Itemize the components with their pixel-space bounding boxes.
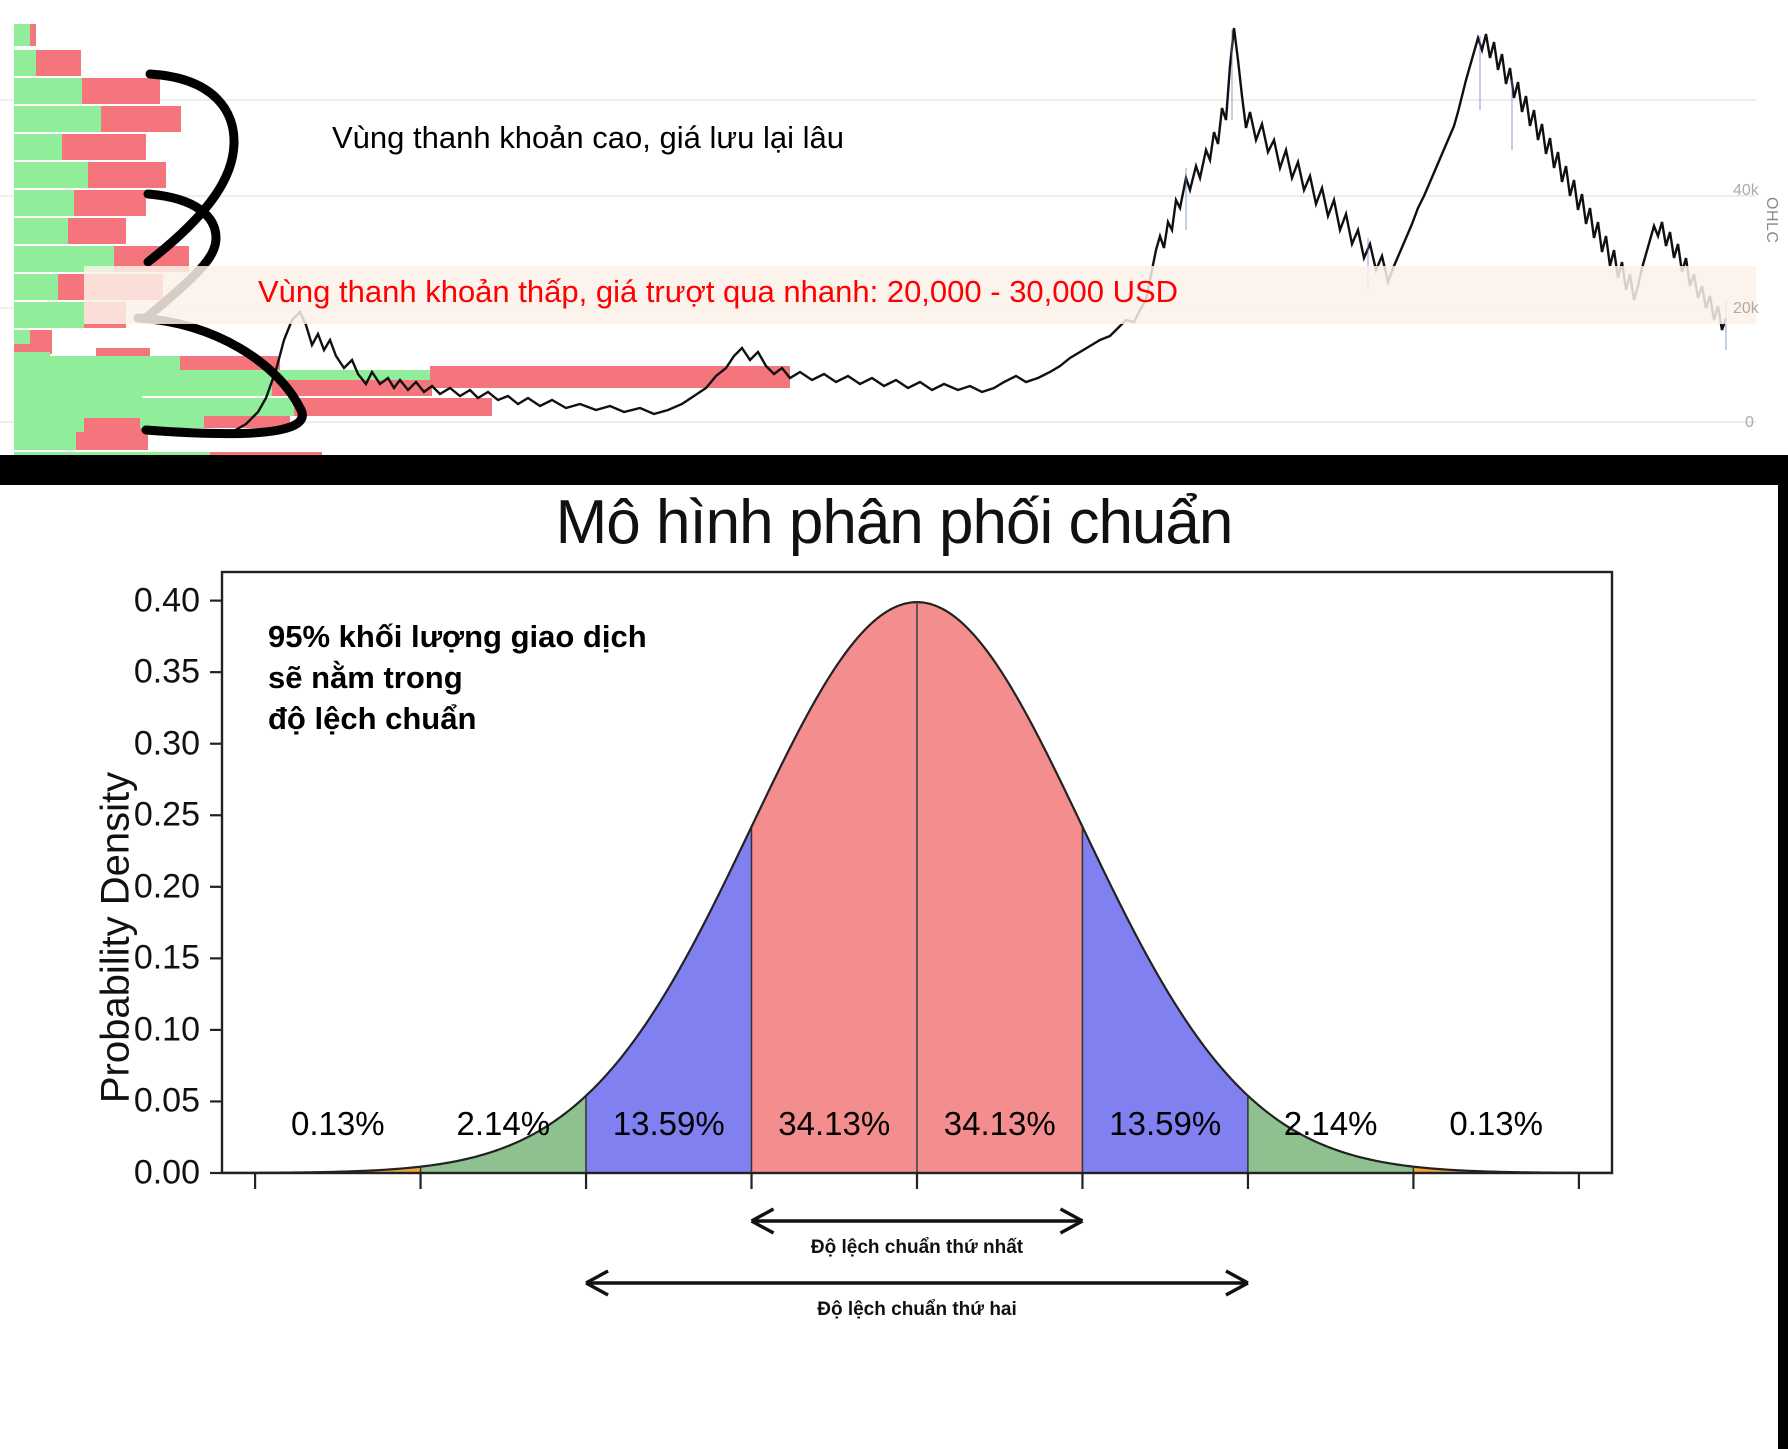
y-axis-tick-label: 0.05 [20, 1082, 200, 1121]
sigma-range-label: Độ lệch chuẩn thứ hai [817, 1299, 1017, 1321]
panel-divider [0, 455, 1788, 485]
axis-tick-40k: 40k [1733, 182, 1759, 200]
band-percent-label: 2.14% [457, 1105, 551, 1143]
annotation-95-percent: 95% khối lượng giao dịch sẽ nằm trong độ… [268, 617, 647, 740]
band-percent-label: 0.13% [291, 1105, 385, 1143]
y-axis-tick-label: 0.40 [20, 581, 200, 620]
band-percent-label: 13.59% [1109, 1105, 1221, 1143]
y-axis-tick-label: 0.15 [20, 939, 200, 978]
annotation-high-liquidity: Vùng thanh khoản cao, giá lưu lại lâu [332, 120, 844, 156]
y-axis-tick-label: 0.10 [20, 1010, 200, 1049]
volume-profile-wide-bars [14, 344, 790, 432]
y-axis-tick-label: 0.30 [20, 724, 200, 763]
band-percent-label: 34.13% [778, 1105, 890, 1143]
right-edge-strip [1778, 485, 1788, 1449]
normal-distribution-chart: Mô hình phân phối chuẩn 95% khối lượng g… [0, 485, 1788, 1449]
axis-tick-0: 0 [1745, 414, 1754, 432]
y-axis-tick-label: 0.00 [20, 1154, 200, 1193]
axis-title-ohlc: OHLC [1762, 197, 1780, 243]
y-axis-tick-label: 0.25 [20, 796, 200, 835]
top-chart-canvas [0, 0, 1788, 455]
axis-tick-20k: 20k [1733, 300, 1759, 318]
band-percent-label: 2.14% [1284, 1105, 1378, 1143]
y-axis-tick-label: 0.35 [20, 653, 200, 692]
band-percent-label: 34.13% [944, 1105, 1056, 1143]
price-volume-profile-chart: Vùng thanh khoản cao, giá lưu lại lâu Vù… [0, 0, 1788, 455]
sigma-range-label: Độ lệch chuẩn thứ nhất [811, 1237, 1023, 1259]
y-axis-tick-label: 0.20 [20, 867, 200, 906]
band-percent-label: 0.13% [1449, 1105, 1543, 1143]
band-percent-label: 13.59% [613, 1105, 725, 1143]
annotation-low-liquidity: Vùng thanh khoản thấp, giá trượt qua nha… [258, 274, 1178, 310]
